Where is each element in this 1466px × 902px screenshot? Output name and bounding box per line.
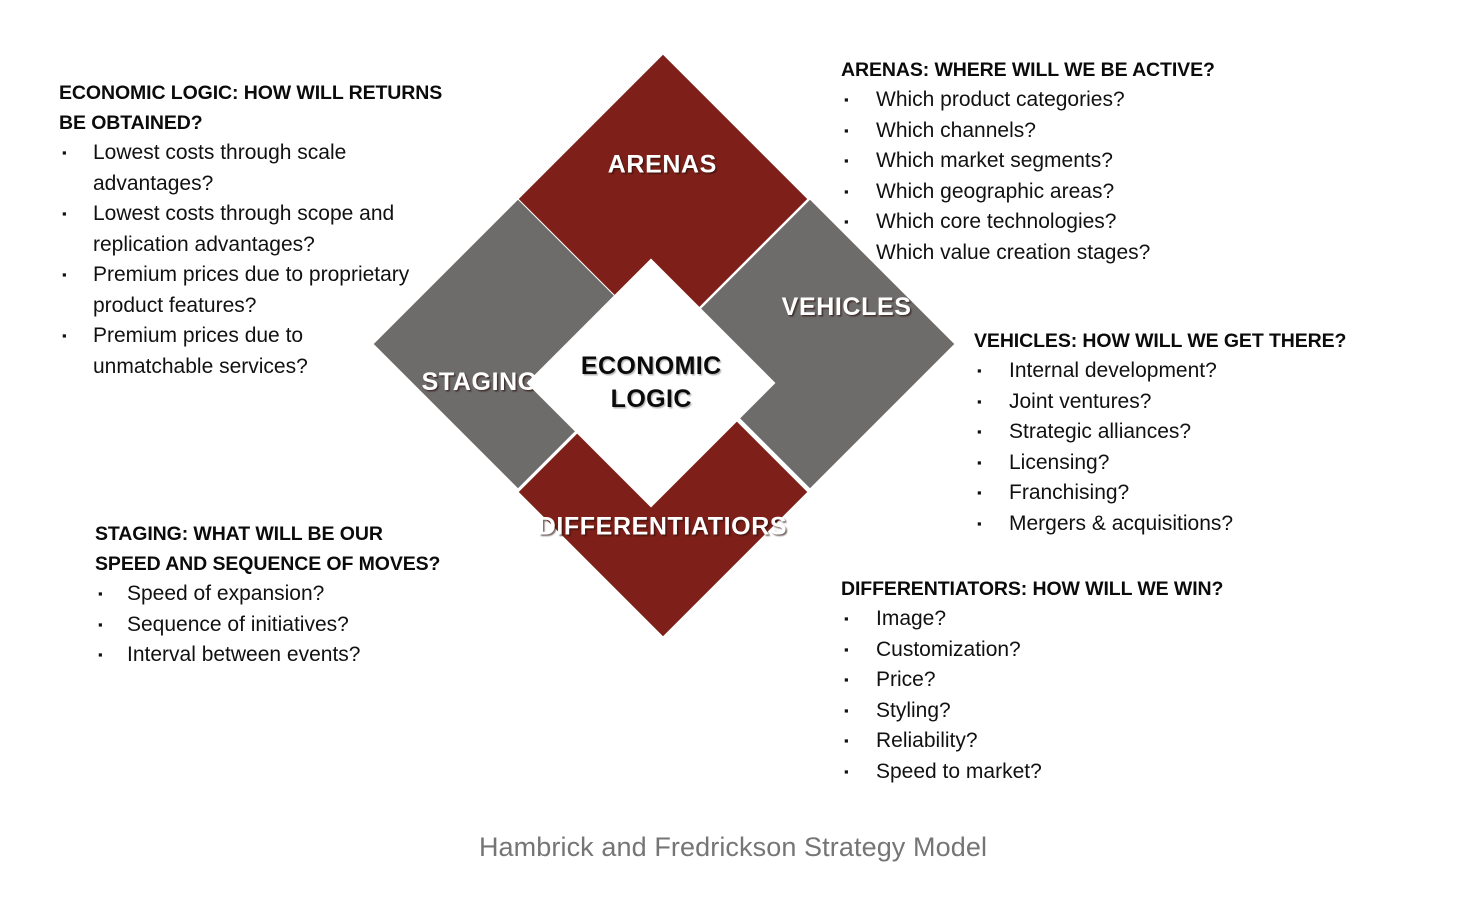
square-bullet-icon: ▪ [62, 199, 67, 230]
list-item-label: Lowest costs through scale advantages? [93, 141, 346, 195]
list-item-label: Franchising? [1009, 481, 1129, 504]
square-bullet-icon: ▪ [98, 640, 103, 671]
list-item: ▪Franchising? [974, 478, 1404, 509]
arenas-heading: ARENAS: WHERE WILL WE BE ACTIVE? [841, 55, 1271, 85]
square-bullet-icon: ▪ [977, 417, 982, 448]
diamond-label-differentiators: DIFFERENTIATIORS [538, 513, 787, 542]
diamond-label-staging: STAGING [422, 368, 538, 397]
list-item-label: Licensing? [1009, 451, 1109, 474]
square-bullet-icon: ▪ [98, 610, 103, 641]
list-item-label: Speed of expansion? [127, 582, 324, 605]
strategy-diamond-diagram: ARENAS STAGING VEHICLES DIFFERENTIATIORS… [360, 90, 970, 720]
square-bullet-icon: ▪ [62, 260, 67, 291]
list-item-label: Speed to market? [876, 760, 1042, 783]
list-item: ▪Mergers & acquisitions? [974, 509, 1404, 540]
list-item: ▪Strategic alliances? [974, 417, 1404, 448]
vehicles-text-block: VEHICLES: HOW WILL WE GET THERE? ▪Intern… [974, 326, 1404, 539]
list-item-label: Mergers & acquisitions? [1009, 512, 1233, 535]
list-item: ▪Licensing? [974, 448, 1404, 479]
vehicles-list: ▪Internal development?▪Joint ventures?▪S… [974, 356, 1404, 539]
diamond-label-economic-logic: ECONOMIC LOGIC [581, 350, 722, 416]
list-item: ▪Speed to market? [841, 757, 1291, 788]
vehicles-heading: VEHICLES: HOW WILL WE GET THERE? [974, 326, 1404, 356]
diagram-caption: Hambrick and Fredrickson Strategy Model [0, 832, 1466, 863]
list-item-label: Strategic alliances? [1009, 420, 1191, 443]
square-bullet-icon: ▪ [844, 757, 849, 788]
square-bullet-icon: ▪ [977, 448, 982, 479]
diamond-label-arenas: ARENAS [608, 150, 717, 179]
list-item: ▪Joint ventures? [974, 387, 1404, 418]
square-bullet-icon: ▪ [977, 387, 982, 418]
square-bullet-icon: ▪ [62, 321, 67, 352]
list-item-label: Internal development? [1009, 359, 1217, 382]
list-item-label: Reliability? [876, 729, 978, 752]
square-bullet-icon: ▪ [977, 356, 982, 387]
square-bullet-icon: ▪ [977, 509, 982, 540]
list-item-label: Lowest costs through scope and replicati… [93, 202, 394, 256]
square-bullet-icon: ▪ [977, 478, 982, 509]
list-item-label: Sequence of initiatives? [127, 613, 349, 636]
square-bullet-icon: ▪ [844, 726, 849, 757]
list-item-label: Premium prices due to unmatchable servic… [93, 324, 308, 378]
list-item-label: Interval between events? [127, 643, 360, 666]
square-bullet-icon: ▪ [62, 138, 67, 169]
square-bullet-icon: ▪ [98, 579, 103, 610]
diamond-label-vehicles: VEHICLES [782, 292, 912, 321]
list-item-label: Joint ventures? [1009, 390, 1151, 413]
list-item: ▪Internal development? [974, 356, 1404, 387]
list-item: ▪Reliability? [841, 726, 1291, 757]
